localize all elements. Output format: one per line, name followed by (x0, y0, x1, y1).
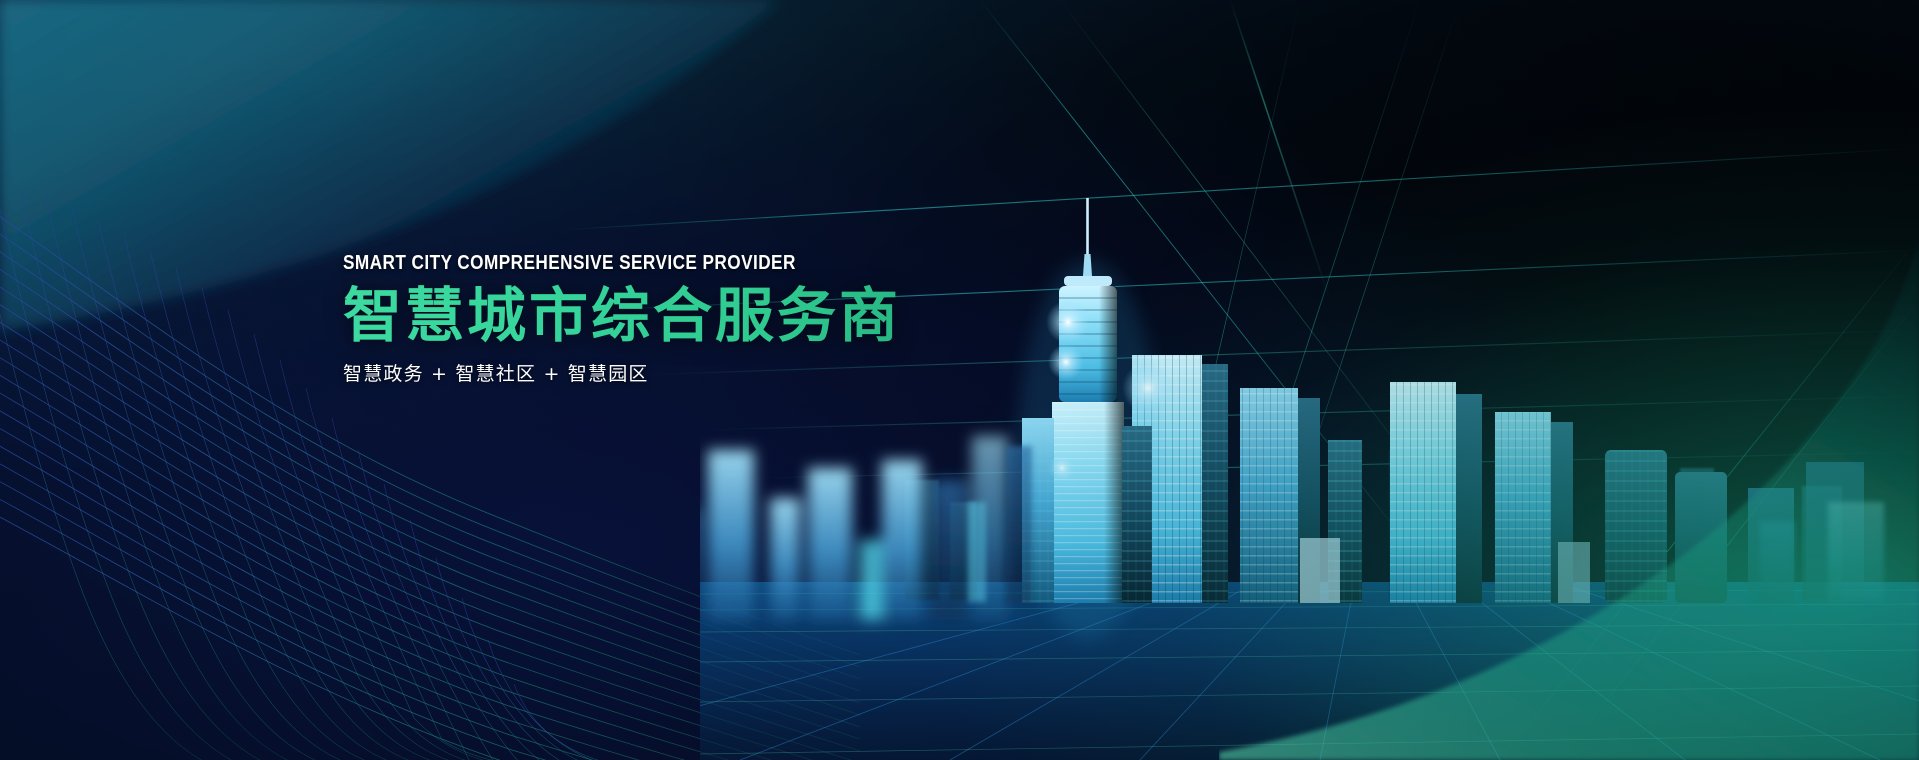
hero-banner: SMART CITY COMPREHENSIVE SERVICE PROVIDE… (0, 0, 1919, 760)
hero-headline: 智慧城市综合服务商 (343, 283, 1103, 349)
hero-subline: 智慧政务 + 智慧社区 + 智慧园区 (343, 359, 1103, 386)
hero-eyebrow: SMART CITY COMPREHENSIVE SERVICE PROVIDE… (343, 252, 997, 275)
hero-text-block: SMART CITY COMPREHENSIVE SERVICE PROVIDE… (343, 252, 1103, 386)
